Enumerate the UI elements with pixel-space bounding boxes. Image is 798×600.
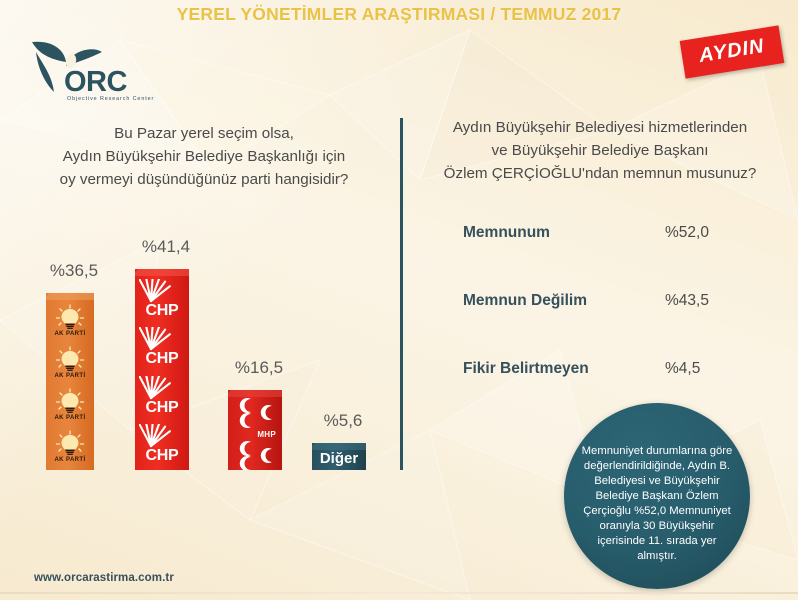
page-title: YEREL YÖNETİMLER ARAŞTIRMASI / TEMMUZ 20… — [0, 4, 798, 25]
panel-divider — [400, 118, 403, 470]
bar-body-akparti: AK PARTİAK PARTİAK PARTİAK PARTİ — [46, 293, 94, 470]
result-value: %4,5 — [665, 360, 700, 378]
orc-logo: ORC Objective Research Center — [14, 36, 154, 102]
lightbulb-icon — [55, 304, 85, 330]
footer-rule — [0, 592, 798, 594]
bar-logo-cell: MHP — [228, 396, 282, 439]
lightbulb-icon — [55, 346, 85, 372]
bar-logo-cell: AK PARTİ — [46, 388, 94, 421]
bar-logo-cell: CHP — [135, 327, 189, 367]
result-label: Fikir Belirtmeyen — [463, 360, 589, 378]
bar-cells-diger: Diğer — [312, 443, 366, 470]
result-row: Memnun Değilim %43,5 — [440, 288, 770, 356]
three-crescents-icon — [232, 439, 278, 470]
orc-tagline: Objective Research Center — [67, 96, 154, 102]
bar-logo-cell: MHP — [228, 439, 282, 470]
right-question-line-3: Özlem ÇERÇİOĞLU'ndan memnun musunuz? — [412, 162, 788, 185]
bar-value-mhp: %16,5 — [228, 358, 290, 378]
bar-cells-chp: CHPCHPCHPCHP — [135, 269, 189, 470]
bar-logo-label: CHP — [146, 303, 179, 319]
result-label: Memnunum — [463, 224, 550, 242]
bar-body-chp: CHPCHPCHPCHP — [135, 269, 189, 470]
bar-logo-cell: Diğer — [312, 450, 366, 467]
bar-logo-cell: CHP — [135, 376, 189, 416]
city-badge: AYDIN — [680, 25, 784, 78]
bar-logo-label: AK PARTİ — [54, 457, 85, 463]
lightbulb-icon — [55, 388, 85, 414]
bar-value-diger: %5,6 — [312, 411, 374, 431]
left-question: Bu Pazar yerel seçim olsa, Aydın Büyükşe… — [18, 122, 390, 191]
six-arrows-icon — [139, 376, 185, 400]
city-badge-label: AYDIN — [698, 35, 767, 68]
result-value: %52,0 — [665, 224, 709, 242]
left-question-line-3: oy vermeyi düşündüğünüz parti hangisidir… — [18, 168, 390, 191]
result-row: Memnunum %52,0 — [440, 220, 770, 288]
bar-logo-label: AK PARTİ — [54, 331, 85, 337]
satisfaction-results: Memnunum %52,0 Memnun Değilim %43,5 Fiki… — [440, 220, 770, 424]
party-vote-bar-chart: %36,5 AK PARTİAK PARTİAK PARTİAK PARTİ %… — [0, 200, 400, 475]
right-question: Aydın Büyükşehir Belediyesi hizmetlerind… — [412, 116, 788, 185]
commentary-circle: Memnuniyet durumlarına göre değerlendiri… — [564, 403, 750, 589]
result-row: Fikir Belirtmeyen %4,5 — [440, 356, 770, 424]
bar-logo-label: MHP — [257, 430, 276, 439]
orc-wordmark: ORC — [64, 66, 127, 99]
lightbulb-icon — [55, 430, 85, 456]
bar-logo-cell: CHP — [135, 279, 189, 319]
bar-logo-label: AK PARTİ — [54, 415, 85, 421]
three-crescents-icon — [232, 396, 278, 430]
bar-logo-label: CHP — [146, 448, 179, 464]
bar-value-chp: %41,4 — [135, 237, 197, 257]
bar-logo-cell: AK PARTİ — [46, 430, 94, 463]
commentary-text: Memnuniyet durumlarına göre değerlendiri… — [580, 444, 734, 563]
bar-logo-cell: CHP — [135, 424, 189, 464]
bar-logo-label: Diğer — [320, 450, 358, 467]
bar-logo-cell: AK PARTİ — [46, 304, 94, 337]
right-question-line-1: Aydın Büyükşehir Belediyesi hizmetlerind… — [412, 116, 788, 139]
right-question-line-2: ve Büyükşehir Belediye Başkanı — [412, 139, 788, 162]
bar-body-mhp: MHPMHP — [228, 390, 282, 470]
bar-logo-label: AK PARTİ — [54, 373, 85, 379]
bar-body-diger: Diğer — [312, 443, 366, 470]
footer-url: www.orcarastirma.com.tr — [34, 572, 174, 584]
bar-logo-cell: AK PARTİ — [46, 346, 94, 379]
six-arrows-icon — [139, 327, 185, 351]
left-question-line-2: Aydın Büyükşehir Belediye Başkanlığı içi… — [18, 145, 390, 168]
result-value: %43,5 — [665, 292, 709, 310]
left-question-line-1: Bu Pazar yerel seçim olsa, — [18, 122, 390, 145]
bar-cells-mhp: MHPMHP — [228, 390, 282, 470]
result-label: Memnun Değilim — [463, 292, 587, 310]
six-arrows-icon — [139, 279, 185, 303]
bar-logo-label: CHP — [146, 400, 179, 416]
bar-logo-label: CHP — [146, 351, 179, 367]
bar-value-akparti: %36,5 — [46, 261, 102, 281]
bar-cells-akparti: AK PARTİAK PARTİAK PARTİAK PARTİ — [46, 293, 94, 470]
six-arrows-icon — [139, 424, 185, 448]
